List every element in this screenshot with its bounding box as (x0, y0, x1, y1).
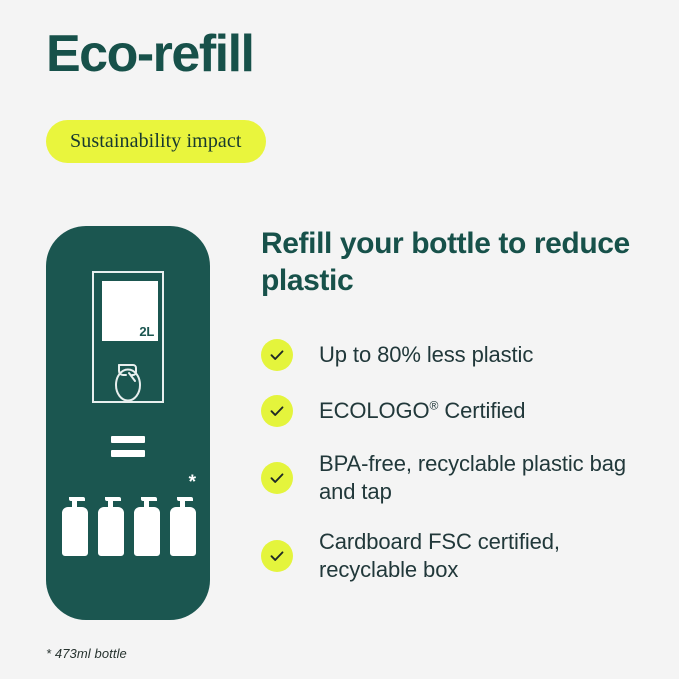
pump-bottle-icon (95, 487, 127, 564)
feature-label-main: ECOLOGO (319, 398, 430, 423)
list-item: BPA-free, recyclable plastic bag and tap (261, 450, 661, 506)
refill-pouch-icon (105, 355, 151, 408)
bottle-row (59, 487, 199, 564)
check-icon (261, 339, 293, 371)
refill-box-graphic: 2L (92, 271, 164, 403)
volume-label: 2L (139, 324, 154, 339)
equals-icon (111, 436, 145, 457)
status-badge: Sustainability impact (46, 120, 266, 163)
feature-list: Up to 80% less plastic ECOLOGO® Certifie… (261, 338, 661, 585)
pump-bottle-icon (131, 487, 163, 564)
check-icon (261, 395, 293, 427)
feature-label: ECOLOGO® Certified (319, 397, 525, 425)
main-content: Refill your bottle to reduce plastic Up … (261, 226, 661, 584)
status-badge-label: Sustainability impact (70, 130, 242, 153)
refill-illustration-card: 2L (46, 226, 210, 620)
list-item: Up to 80% less plastic (261, 338, 661, 372)
poster-root: Eco-refill Sustainability impact 2L (0, 0, 679, 679)
feature-label: BPA-free, recyclable plastic bag and tap (319, 450, 661, 506)
footnote: * 473ml bottle (46, 646, 127, 661)
check-icon (261, 462, 293, 494)
list-item: ECOLOGO® Certified (261, 394, 661, 428)
asterisk-marker: * (189, 473, 196, 492)
feature-label: Up to 80% less plastic (319, 341, 533, 369)
refill-box-label-panel: 2L (102, 281, 158, 341)
check-icon (261, 540, 293, 572)
feature-label-suffix: Certified (438, 398, 525, 423)
pump-bottle-icon (167, 487, 199, 564)
feature-label: Cardboard FSC certified, recyclable box (319, 528, 661, 584)
page-title: Eco-refill (46, 26, 254, 83)
section-heading: Refill your bottle to reduce plastic (261, 226, 661, 300)
list-item: Cardboard FSC certified, recyclable box (261, 528, 661, 584)
pump-bottle-icon (59, 487, 91, 564)
